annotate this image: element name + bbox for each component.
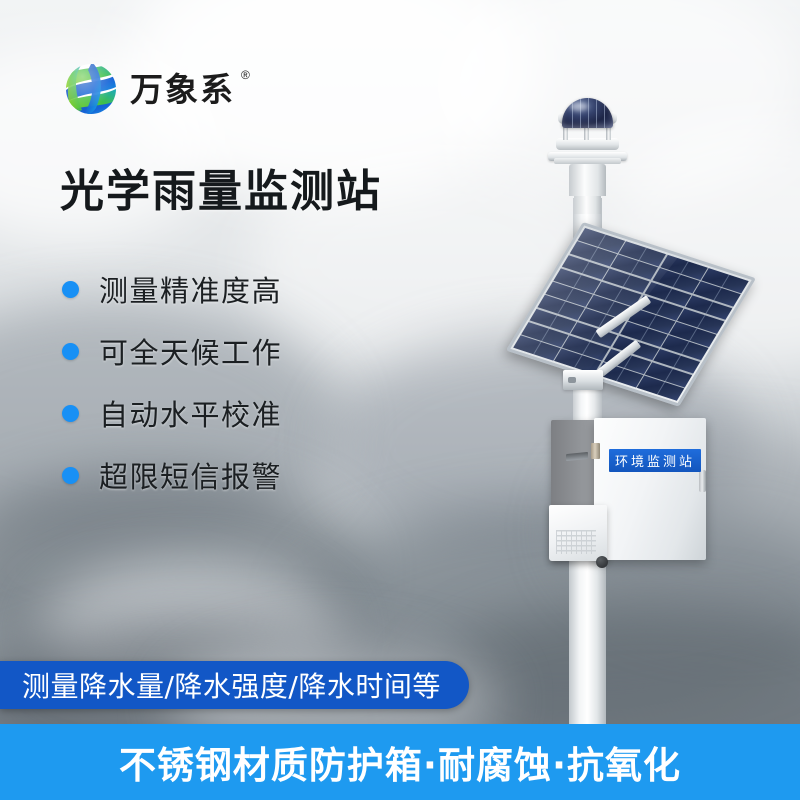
list-item: 自动水平校准 <box>62 382 282 444</box>
page-title: 光学雨量监测站 <box>60 168 382 216</box>
feature-label: 自动水平校准 <box>99 392 282 434</box>
brand-logo: 万象系 ® <box>62 60 254 118</box>
feature-label: 超限短信报警 <box>99 454 282 496</box>
list-item: 测量精准度高 <box>62 258 282 320</box>
bottom-bar: 不锈钢材质防护箱·耐腐蚀·抗氧化 <box>0 724 800 800</box>
feature-list: 测量精准度高 可全天候工作 自动水平校准 超限短信报警 <box>62 258 282 506</box>
pill-banner-text: 测量降水量/降水强度/降水时间等 <box>22 665 441 705</box>
feature-label: 可全天候工作 <box>99 330 282 372</box>
registered-trademark-icon: ® <box>241 68 250 82</box>
pill-banner: 测量降水量/降水强度/降水时间等 <box>0 661 469 709</box>
brand-name: 万象系 <box>130 73 235 106</box>
list-item: 可全天候工作 <box>62 320 282 382</box>
bottom-bar-text: 不锈钢材质防护箱·耐腐蚀·抗氧化 <box>119 735 681 789</box>
product-banner: 环境监测站 <box>0 0 800 800</box>
list-item: 超限短信报警 <box>62 444 282 506</box>
feature-label: 测量精准度高 <box>99 268 282 310</box>
bullet-dot-icon <box>62 281 79 298</box>
bullet-dot-icon <box>62 467 79 484</box>
globe-swirl-logo-icon <box>62 60 120 118</box>
bullet-dot-icon <box>62 405 79 422</box>
bullet-dot-icon <box>62 343 79 360</box>
